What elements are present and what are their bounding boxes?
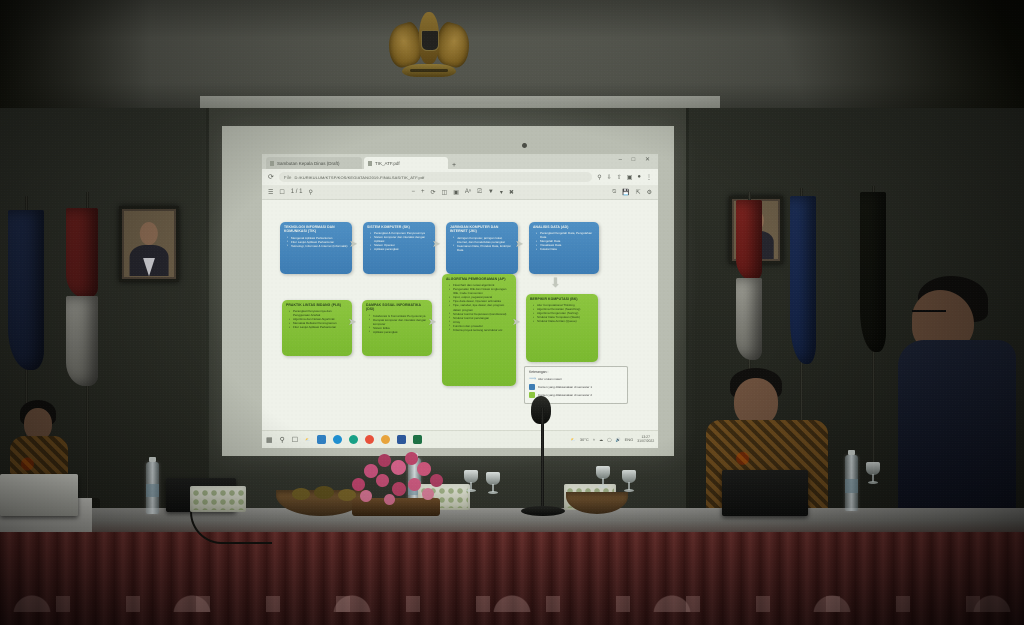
arrow-icon: ➤ xyxy=(349,240,357,250)
diagram-node-plb: PRAKTIK LINTAS BIDANG (PLB) Perangkat Pe… xyxy=(282,300,352,356)
node-items: Perangkat Pengolah Data, Pengolahan Data… xyxy=(533,231,595,251)
browser-tab-1[interactable]: Sambutan Kepala Dinas (Draft) xyxy=(266,157,362,169)
window-controls[interactable]: – □ ✕ xyxy=(619,156,654,163)
tab-favicon xyxy=(270,161,274,166)
url-input[interactable]: File D:/KURIKULUM/KTSP/KOS/KEGIATAN/2019… xyxy=(279,172,592,182)
node-item: Perangkat Pengolah Data, Pengolahan Data xyxy=(537,231,595,239)
rotate-icon[interactable]: ⟳ xyxy=(431,189,436,196)
fruit xyxy=(292,488,310,500)
fruit xyxy=(314,486,334,499)
weather-temp: 30°C xyxy=(580,437,589,442)
page-number[interactable]: 1 / 1 xyxy=(291,189,303,195)
diagram-node-bk: BERPIKIR KOMPUTASI (BK) Alur Computation… xyxy=(526,294,598,362)
browser-tab-bar[interactable]: Sambutan Kepala Dinas (Draft) TIK_ATF.pd… xyxy=(262,154,658,169)
weather-icon[interactable]: ⛅ xyxy=(305,437,310,442)
rose-bloom xyxy=(422,488,434,500)
rose-bloom xyxy=(376,474,389,487)
opera-icon[interactable] xyxy=(365,435,374,444)
chevron-up-icon[interactable]: ˄ xyxy=(593,437,595,442)
menu-icon[interactable]: ⋮ xyxy=(646,174,652,181)
flower-arrangement xyxy=(348,452,448,506)
rose-bloom xyxy=(352,478,365,491)
clock-date: 31/07/2022 xyxy=(637,439,654,443)
bottle-cap xyxy=(848,450,855,455)
tissue-pattern xyxy=(192,488,244,510)
download-icon[interactable]: ⇩ xyxy=(607,174,612,181)
draw-icon[interactable]: ▼ xyxy=(488,189,494,195)
goblet-foot xyxy=(598,485,608,488)
search-icon[interactable]: ⚲ xyxy=(280,436,285,444)
tab-title: TIK_ATF.pdf xyxy=(375,161,400,166)
bottle-label xyxy=(845,479,858,494)
task-view-icon[interactable]: ☐ xyxy=(292,436,298,444)
rose-bloom xyxy=(405,452,418,465)
diagram-node-ap: ALGORITMA PEMROGRAMAN (AP) Flowchart dan… xyxy=(442,274,516,386)
rose-bloom xyxy=(384,494,395,505)
bottle-label xyxy=(146,484,159,498)
node-item: Kriteria proyek tentang terstruktur etc xyxy=(450,328,512,332)
seminar-room-photo: Sambutan Kepala Dinas (Draft) TIK_ATF.pd… xyxy=(0,0,1024,625)
sidebar-icon[interactable]: ☰ xyxy=(268,189,273,196)
node-title: BERPIKIR KOMPUTASI (BK) xyxy=(530,297,594,301)
node-items: Perangkat Penyusunnya dan Penggunaan Art… xyxy=(286,309,348,329)
reload-icon[interactable]: ⟳ xyxy=(268,173,274,181)
windows-taskbar[interactable]: ▦ ⚲ ☐ ⛅ ⛅ 30°C ˄ ☁ ◯ 🔊 ENG 13:27 31/07/2 xyxy=(262,430,658,448)
rose-bloom xyxy=(391,460,406,475)
share-icon[interactable]: ⇧ xyxy=(617,174,622,181)
node-item: Pengenalan IDE dan Notasi Lingkungan IDE… xyxy=(450,287,512,295)
diagram-node-jki: JARINGAN KOMPUTER DAN INTERNET (JKI) Jar… xyxy=(446,222,518,274)
rose-bloom xyxy=(360,490,372,502)
node-item: Tipe, variabel, tipe dasar, dan program … xyxy=(450,303,512,311)
down-arrow-icon: ⬇ xyxy=(550,276,561,289)
laptop-left xyxy=(0,474,78,516)
network-icon[interactable]: ◯ xyxy=(607,437,611,442)
microphone-base xyxy=(521,506,565,516)
search-icon[interactable]: ⚲ xyxy=(597,174,601,181)
node-item: Jaringan Komputer, jaringan lokal, inter… xyxy=(454,236,514,244)
rose-bloom xyxy=(364,464,378,478)
legend-title: Keterangan : xyxy=(529,370,623,374)
legend-swatch-green xyxy=(529,392,535,398)
highlight-icon[interactable]: ▾ xyxy=(500,189,503,196)
edge-legacy-icon[interactable] xyxy=(349,435,358,444)
node-items: Flowchart dan notasi algoritmik Pengenal… xyxy=(446,283,512,332)
browser-tab-2[interactable]: TIK_ATF.pdf xyxy=(364,157,448,169)
official-portrait-left xyxy=(119,206,179,282)
extension-icon[interactable]: ▣ xyxy=(627,174,633,181)
goblet-foot xyxy=(466,489,476,492)
ceiling-shadow-left xyxy=(0,0,150,110)
node-item: Keamanan Data, Proteksi Data, Enkripsi D… xyxy=(454,244,514,252)
zoom-in-button[interactable]: + xyxy=(421,189,425,195)
node-title: PRAKTIK LINTAS BIDANG (PLB) xyxy=(286,303,348,307)
url-text: D:/KURIKULUM/KTSP/KOS/KEGIATAN/2019-FINA… xyxy=(295,175,425,180)
thumbnail-icon[interactable]: ☐ xyxy=(279,189,284,196)
onedrive-icon[interactable]: ☁ xyxy=(599,437,603,442)
goblet-foot xyxy=(488,491,498,494)
node-items: Perangkat & Komponen Penyusunnya Sistem … xyxy=(367,231,431,251)
glasses xyxy=(912,310,946,316)
node-title: ANALISIS DATA (AD) xyxy=(533,225,595,229)
pdf-page-content: TEKNOLOGI INFORMASI DAN KOMUNIKASI (TIK)… xyxy=(262,200,658,448)
head xyxy=(734,378,778,426)
save-icon[interactable]: 💾 xyxy=(622,189,629,196)
table-skirt-trim xyxy=(0,596,1024,612)
arrow-icon: ➤ xyxy=(515,240,523,250)
windows-start-icon[interactable]: ▦ xyxy=(266,436,273,444)
garuda-banner xyxy=(402,64,456,77)
node-item: Dampak komputer dan interaksi dengan kom… xyxy=(370,318,428,326)
goblet-foot xyxy=(868,481,878,484)
text-select-icon[interactable]: ⎚ xyxy=(477,189,482,196)
garuda-shield xyxy=(421,30,439,51)
rose-bloom xyxy=(430,474,443,487)
microphone-stand xyxy=(541,408,544,512)
legend-row: ⟹ Alur urutan materi xyxy=(529,376,623,382)
indonesia-flag-white-right xyxy=(736,278,762,360)
node-title: TEKNOLOGI INFORMASI DAN KOMUNIKASI (TIK) xyxy=(284,225,348,234)
indonesia-flag-red-right xyxy=(736,200,762,280)
pdf-favicon xyxy=(368,161,372,166)
node-item: Fitur Lanjut Aplikasi Perkantoran xyxy=(290,325,348,329)
node-item: Aplikasi perangkat xyxy=(371,247,431,251)
node-title: DAMPAK SOSIAL INFORMATIKA (DSI) xyxy=(366,303,428,312)
torso-dark-jacket xyxy=(898,340,1016,520)
print-icon[interactable]: ⍉ xyxy=(612,189,616,196)
water-bottle xyxy=(146,462,159,514)
legend-arrow-icon: ⟹ xyxy=(529,376,535,382)
rose-bloom xyxy=(408,478,421,491)
node-title: ALGORITMA PEMROGRAMAN (AP) xyxy=(446,277,512,281)
mail-icon[interactable] xyxy=(317,435,326,444)
legend-label: Konten yang dilaksanakan di semester 2 xyxy=(538,393,592,397)
word-icon[interactable] xyxy=(397,435,406,444)
wall-seam-right xyxy=(686,108,689,518)
node-items: Kolaborasi & Komunikasi Penyusunnya Damp… xyxy=(366,314,428,334)
node-title: SISTEM KOMPUTER (SK) xyxy=(367,225,431,229)
read-aloud-icon[interactable]: Aⁿ xyxy=(465,189,471,195)
node-items: Mengenal Aplikasi Perkantoran Fitur Lanj… xyxy=(284,236,348,248)
settings-icon[interactable]: ⚙ xyxy=(647,189,652,196)
edge-icon[interactable] xyxy=(333,435,342,444)
wall-seam-left xyxy=(206,108,209,518)
presentation-icon[interactable]: ▣ xyxy=(453,189,459,196)
arrow-icon: ➤ xyxy=(348,318,356,328)
search-icon[interactable]: ⚲ xyxy=(308,189,312,196)
legend-swatch-blue xyxy=(529,384,535,390)
new-tab-button[interactable]: + xyxy=(452,162,456,169)
taskbar-clock[interactable]: 13:27 31/07/2022 xyxy=(637,436,654,443)
blue-institutional-flag xyxy=(790,196,816,364)
diagram-node-dsi: DAMPAK SOSIAL INFORMATIKA (DSI) Kolabora… xyxy=(362,300,432,356)
indonesia-flag-white-left xyxy=(66,296,98,386)
browser-address-bar[interactable]: ⟳ File D:/KURIKULUM/KTSP/KOS/KEGIATAN/20… xyxy=(262,169,658,185)
node-item: Teknologi, Informasi & Internet (Informa… xyxy=(288,244,348,248)
screen-mount-dot xyxy=(522,143,527,148)
bottle-cap xyxy=(149,457,156,462)
chrome-icon[interactable] xyxy=(381,435,390,444)
node-items: Jaringan Komputer, jaringan lokal, inter… xyxy=(450,236,514,252)
file-protocol-icon: File xyxy=(284,175,292,180)
browser-action-icons[interactable]: ⚲ ⇩ ⇧ ▣ ● ⋮ xyxy=(597,174,652,181)
weather-icon[interactable]: ⛅ xyxy=(571,437,576,442)
diagram-node-sk: SISTEM KOMPUTER (SK) Perangkat & Kompone… xyxy=(363,222,435,274)
rose-bloom xyxy=(378,454,391,467)
node-item: Perangkat Penyusunnya dan Penggunaan Art… xyxy=(290,309,348,317)
diagram-node-tik: TEKNOLOGI INFORMASI DAN KOMUNIKASI (TIK)… xyxy=(280,222,352,274)
language-indicator[interactable]: ENG xyxy=(625,437,634,442)
legend-label: Alur urutan materi xyxy=(538,377,562,381)
profile-icon[interactable]: ● xyxy=(637,174,641,181)
rose-bloom xyxy=(392,482,406,496)
rose-bloom xyxy=(417,462,431,476)
arrow-icon: ➤ xyxy=(428,318,436,328)
system-tray[interactable]: ⛅ 30°C ˄ ☁ ◯ 🔊 ENG 13:27 31/07/2022 ▢ xyxy=(571,436,658,443)
pdf-toolbar[interactable]: ☰ ☐ 1 / 1 ⚲ − + ⟳ ◫ ▣ Aⁿ ⎚ ▼ ▾ ✖ ⍉ 💾 ⇱ ⚙ xyxy=(262,185,658,200)
legend-row: Konten yang dilaksanakan di semester 1 xyxy=(529,384,623,390)
arrow-icon: ➤ xyxy=(432,240,440,250)
laptop-presenter xyxy=(722,470,808,516)
portrait-head xyxy=(140,222,158,246)
garuda-pancasila-emblem xyxy=(388,8,470,86)
node-items: Alur Computational Thinking Algoritma Pe… xyxy=(530,303,594,323)
arrow-icon: ➤ xyxy=(512,318,520,328)
node-title: JARINGAN KOMPUTER DAN INTERNET (JKI) xyxy=(450,225,514,234)
tab-title: Sambutan Kepala Dinas (Draft) xyxy=(277,161,340,166)
browser-window[interactable]: Sambutan Kepala Dinas (Draft) TIK_ATF.pd… xyxy=(262,154,658,448)
volume-icon[interactable]: 🔊 xyxy=(616,437,621,442)
node-item: Aplikasi perangkat xyxy=(370,330,428,334)
excel-icon[interactable] xyxy=(413,435,422,444)
node-item: Struktur Data Antrian (Queue) xyxy=(534,319,594,323)
node-item: Koleksi Data xyxy=(537,247,595,251)
legend-label: Konten yang dilaksanakan di semester 1 xyxy=(538,385,592,389)
erase-icon[interactable]: ✖ xyxy=(509,189,514,196)
indonesia-flag-red-left xyxy=(66,208,98,298)
dark-flag xyxy=(860,192,886,352)
tissue-box xyxy=(190,486,246,512)
water-bottle xyxy=(845,455,858,511)
fullscreen-icon[interactable]: ⇱ xyxy=(636,189,641,196)
dark-blue-institutional-flag xyxy=(8,210,44,370)
diagram-node-ad: ANALISIS DATA (AD) Perangkat Pengolah Da… xyxy=(529,222,599,274)
fit-page-icon[interactable]: ◫ xyxy=(442,189,448,196)
zoom-out-button[interactable]: − xyxy=(411,189,415,195)
node-item: Sistem komputer dan interaksi dengan Apl… xyxy=(371,235,431,243)
ceiling-shadow-right xyxy=(764,0,1024,118)
